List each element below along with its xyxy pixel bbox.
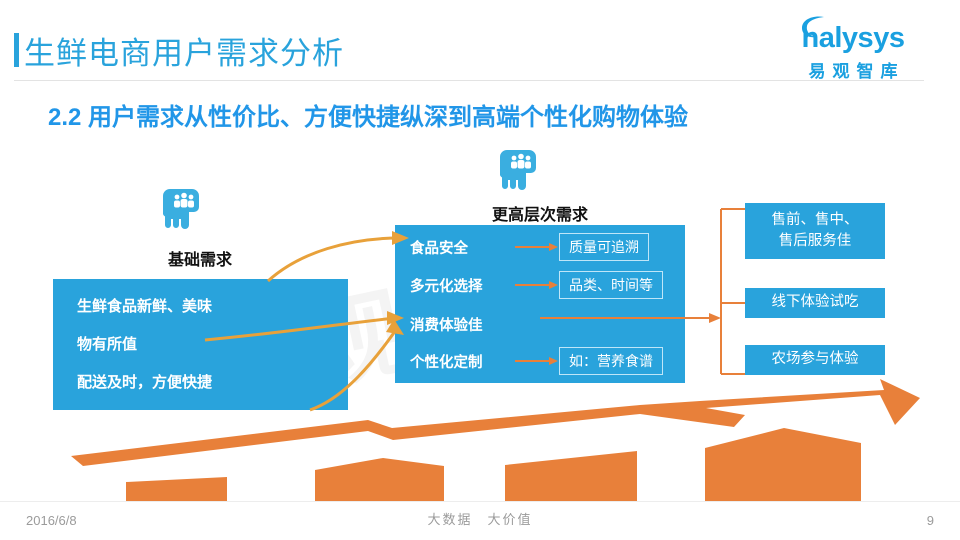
slide-subtitle: 2.2 用户需求从性价比、方便快捷纵深到高端个性化购物体验: [48, 97, 688, 132]
service-box: 售前、售中、 售后服务佳: [745, 203, 885, 259]
logo-wordmark: nalysys: [802, 24, 905, 53]
hand-pointing-down-icon: [495, 143, 551, 199]
higher-need-box: 食品安全 质量可追溯 多元化选择 品类、时间等 消费体验佳 个性化定制: [395, 225, 685, 383]
service-box: 线下体验试吃: [745, 288, 885, 318]
basic-need-line: 物有所值: [77, 333, 348, 354]
need-chip: 如：营养食谱: [559, 347, 663, 375]
logo-chinese-text: 易观智库: [768, 57, 938, 82]
need-label: 消费体验佳: [410, 314, 515, 335]
need-row: 食品安全 质量可追溯: [410, 233, 675, 261]
higher-need-title: 更高层次需求: [460, 201, 620, 225]
arrow-right-icon: [515, 242, 559, 252]
need-row: 消费体验佳: [410, 310, 675, 338]
footer-tagline: 大数据 大价值: [0, 509, 960, 528]
service-box-line: 线下体验试吃: [772, 292, 859, 313]
service-box-line: 售前、售中、: [772, 210, 859, 231]
service-box-line: 农场参与体验: [772, 349, 859, 370]
need-label: 多元化选择: [410, 275, 515, 296]
need-row: 多元化选择 品类、时间等: [410, 271, 675, 299]
basic-need-title: 基础需求: [140, 246, 260, 270]
title-accent-bar: [14, 33, 19, 67]
slide-canvas: 易观智库 生鲜电商用户需求分析 2.2 用户需求从性价比、方便快捷纵深到高端个性…: [0, 0, 960, 540]
need-chip: 品类、时间等: [559, 271, 663, 299]
logo-swoosh-icon: [800, 15, 826, 39]
arrow-right-icon: [515, 280, 559, 290]
arrow-right-icon: [515, 356, 559, 366]
need-row: 个性化定制 如：营养食谱: [410, 347, 675, 375]
basic-need-line: 配送及时，方便快捷: [77, 371, 348, 392]
basic-need-box: 生鲜食品新鲜、美味 物有所值 配送及时，方便快捷: [53, 279, 348, 410]
analysys-logo: nalysys 易观智库: [768, 24, 938, 82]
need-chip: 质量可追溯: [559, 233, 649, 261]
service-box-line: 售后服务佳: [772, 231, 859, 252]
need-label: 个性化定制: [410, 351, 515, 372]
hand-pointing-down-icon: [158, 182, 214, 238]
need-label: 食品安全: [410, 237, 515, 258]
footer-page-number: 9: [927, 513, 934, 528]
footer-divider: [0, 501, 960, 502]
basic-need-line: 生鲜食品新鲜、美味: [77, 295, 348, 316]
page-title: 生鲜电商用户需求分析: [24, 28, 344, 73]
service-box: 农场参与体验: [745, 345, 885, 375]
